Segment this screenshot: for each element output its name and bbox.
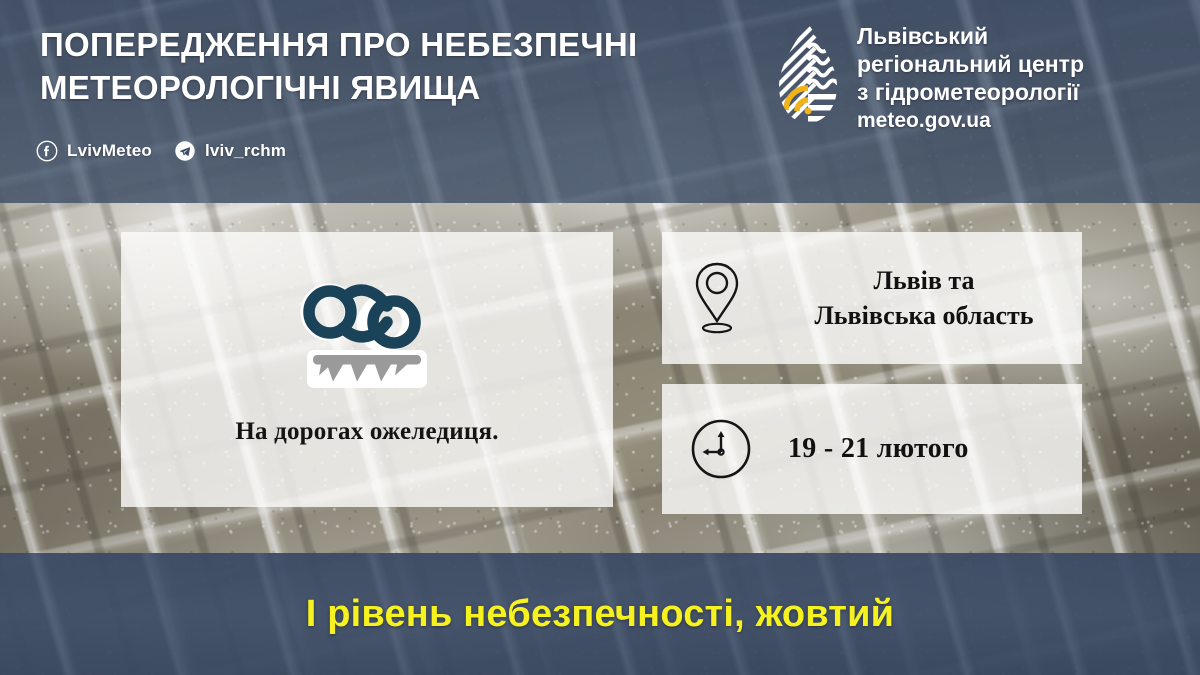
logo-text: Львівський регіональний центр з гідромет… (857, 22, 1084, 134)
location-line-1: Львів та (873, 266, 974, 295)
social-links: LvivMeteo lviv_rchm (36, 140, 286, 162)
logo-line-1: Львівський (857, 23, 988, 49)
danger-level-text: І рівень небезпечності, жовтий (306, 593, 895, 636)
facebook-icon (36, 140, 58, 162)
social-link-facebook[interactable]: LvivMeteo (36, 140, 152, 162)
icy-road-icon-wrapper (287, 260, 447, 392)
date-range-text: 19 - 21 лютого (788, 433, 969, 465)
logo-line-2: регіональний центр (857, 51, 1084, 77)
date-panel: 19 - 21 лютого (662, 384, 1082, 514)
logo-line-3: з гідрометеорології (857, 79, 1079, 105)
header-band: ПОПЕРЕДЖЕННЯ ПРО НЕБЕЗПЕЧНІ МЕТЕОРОЛОГІЧ… (0, 0, 1200, 203)
location-panel: Львів та Львівська область (662, 232, 1082, 364)
clock-icon (690, 418, 752, 480)
logo-website-url[interactable]: meteo.gov.ua (857, 108, 1084, 134)
warning-description: На дорогах ожеледиця. (235, 418, 498, 446)
location-line-2: Львівська область (814, 301, 1033, 330)
icy-road-icon (287, 260, 447, 392)
social-link-telegram[interactable]: lviv_rchm (174, 140, 286, 162)
social-label-facebook: LvivMeteo (67, 141, 152, 161)
telegram-icon (174, 140, 196, 162)
page-title: ПОПЕРЕДЖЕННЯ ПРО НЕБЕЗПЕЧНІ МЕТЕОРОЛОГІЧ… (40, 24, 760, 110)
map-pin-icon (692, 261, 742, 335)
water-droplet-logo-icon (775, 22, 841, 127)
footer-banner: І рівень небезпечності, жовтий (0, 553, 1200, 675)
organisation-logo[interactable]: Львівський регіональний центр з гідромет… (775, 22, 1084, 134)
warning-panel: На дорогах ожеледиця. (121, 232, 613, 507)
location-text: Львів та Львівська область (776, 263, 1082, 334)
social-label-telegram: lviv_rchm (205, 141, 286, 161)
